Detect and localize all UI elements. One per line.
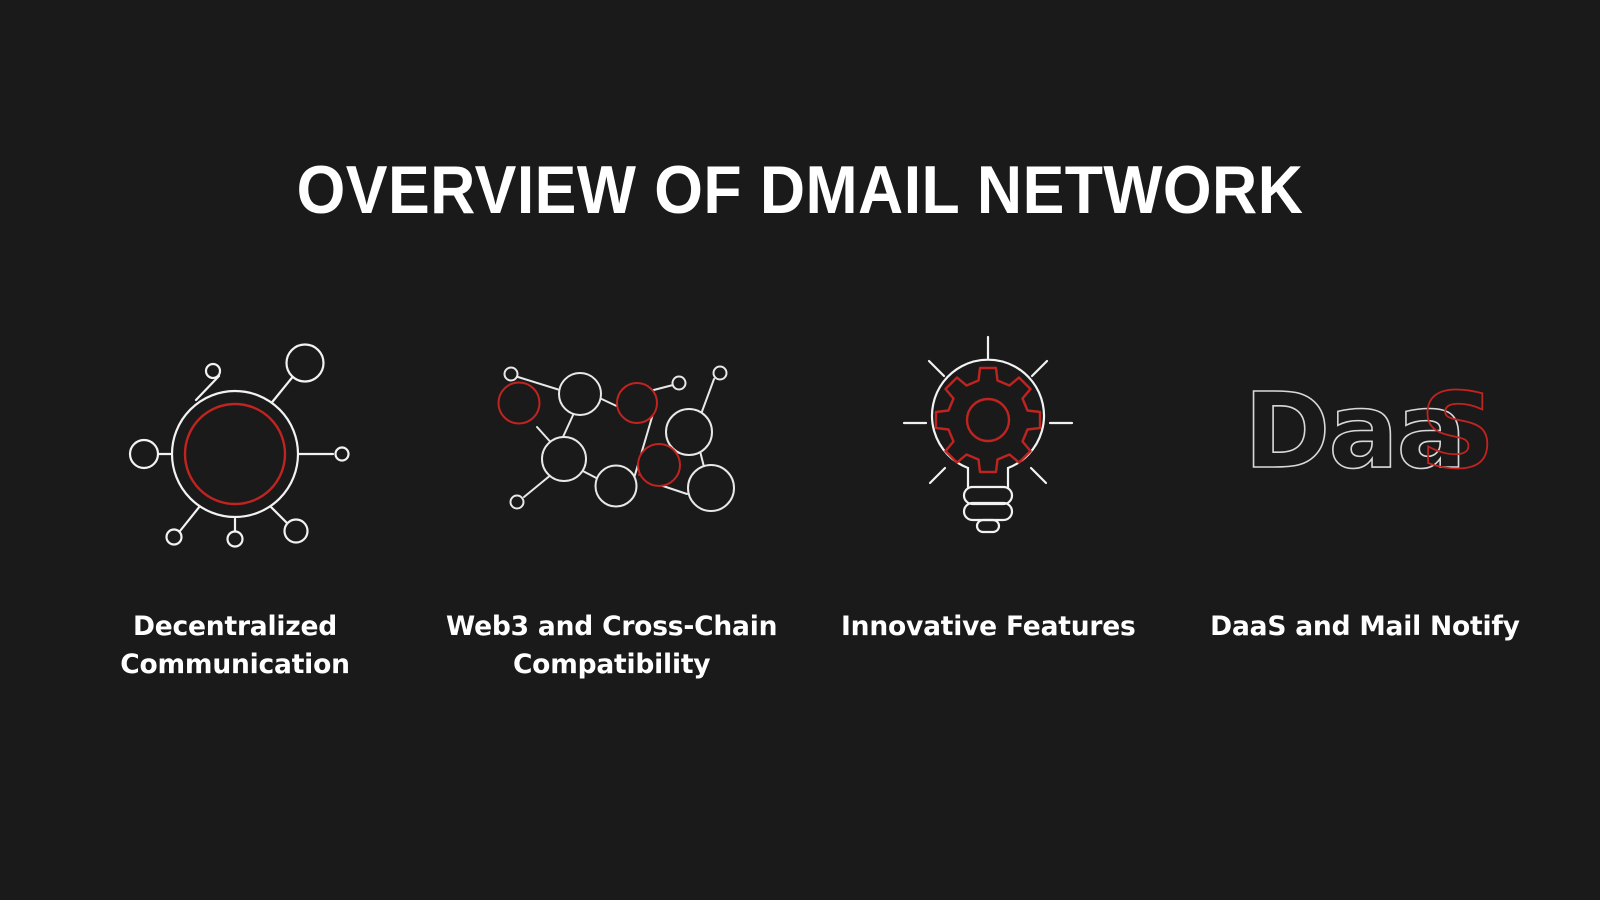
feature-row: Decentralized Communication — [60, 320, 1540, 684]
daas-wordmark-icon: Daa S — [1235, 320, 1495, 550]
feature-label-daas-mail-notify: DaaS and Mail Notify — [1210, 608, 1520, 646]
feature-card-web3-cross-chain[interactable]: Web3 and Cross-Chain Compatibility — [437, 320, 787, 684]
feature-label-decentralized-communication: Decentralized Communication — [120, 608, 350, 684]
feature-card-innovative-features[interactable]: Innovative Features — [813, 320, 1163, 646]
daas-wordmark-text-accent: S — [1420, 370, 1495, 492]
slide-canvas: OVERVIEW OF DMAIL NETWORK — [0, 0, 1600, 900]
page-title: OVERVIEW OF DMAIL NETWORK — [64, 153, 1536, 227]
hub-network-icon — [105, 320, 365, 550]
lightbulb-gear-icon — [858, 320, 1118, 550]
feature-label-web3-cross-chain: Web3 and Cross-Chain Compatibility — [446, 608, 777, 684]
feature-card-decentralized-communication[interactable]: Decentralized Communication — [60, 320, 410, 684]
feature-card-daas-mail-notify[interactable]: Daa S DaaS and Mail Notify — [1190, 320, 1540, 646]
mesh-network-icon — [482, 320, 742, 550]
feature-label-innovative-features: Innovative Features — [841, 608, 1136, 646]
